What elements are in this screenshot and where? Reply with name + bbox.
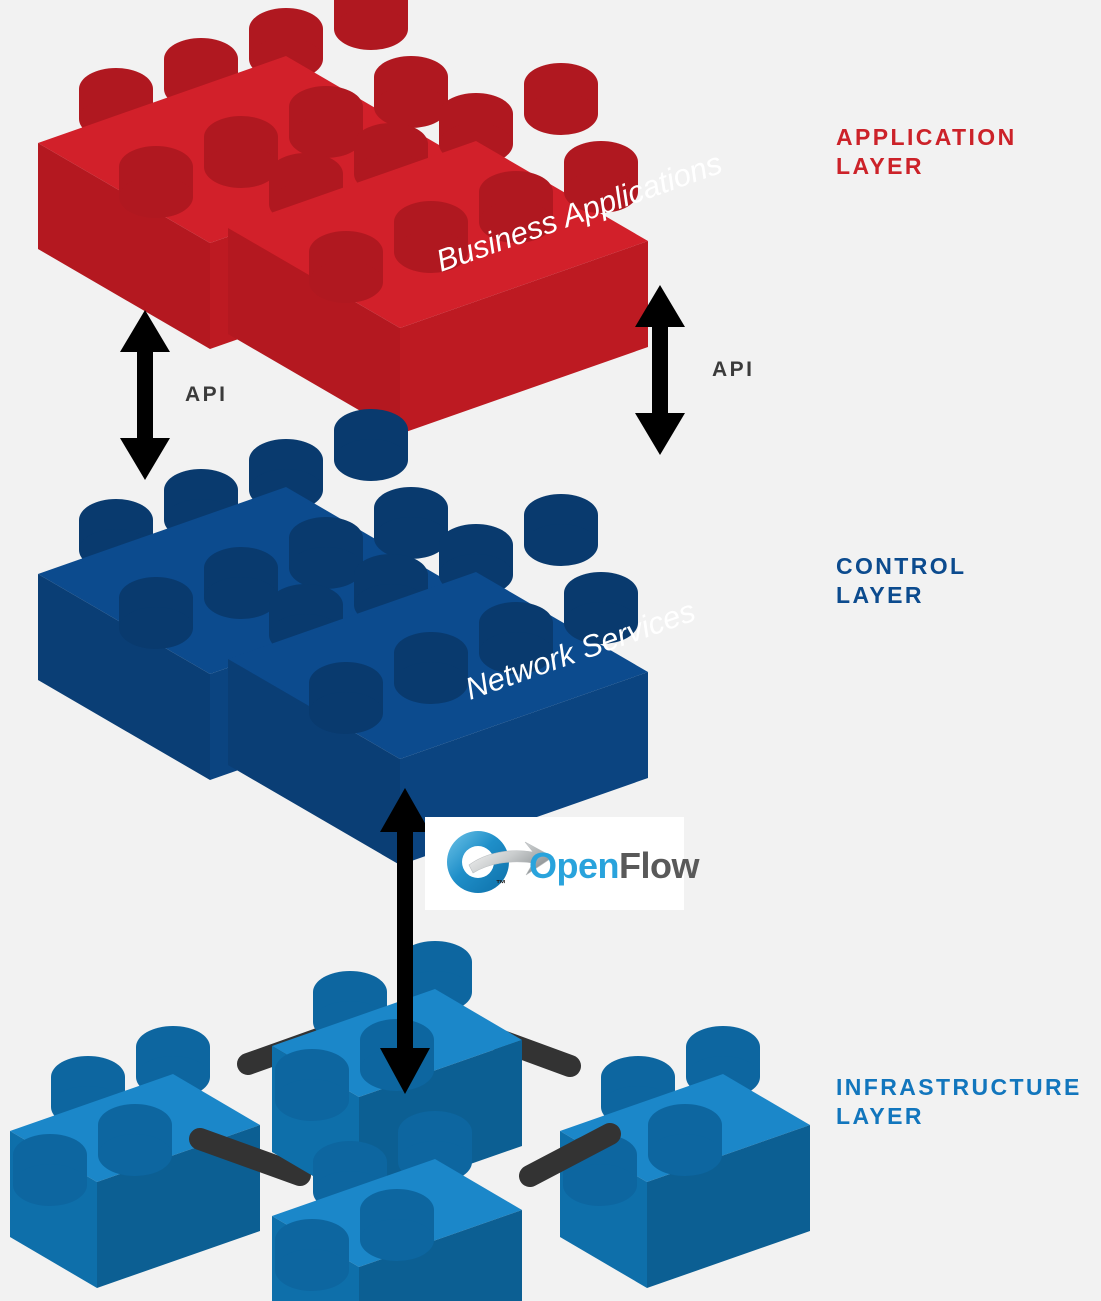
infrastructure-layer-label-line2: LAYER [836,1102,1082,1131]
control-layer-label-line2: LAYER [836,581,967,610]
openflow-logo[interactable]: OpenFlow ™ [425,817,684,910]
openflow-word-flow: Flow [619,845,699,886]
diagram-canvas: Business Applications Network Services [0,0,1101,1301]
openflow-wordmark: OpenFlow [529,845,699,887]
application-layer-label-line2: LAYER [836,152,1017,181]
application-layer-label: APPLICATION LAYER [836,123,1017,181]
infrastructure-layer-label-line1: INFRASTRUCTURE [836,1073,1082,1102]
api-label-right: API [712,358,755,382]
openflow-word-open: Open [529,845,619,886]
control-layer-label: CONTROL LAYER [836,552,967,610]
api-label-left: API [185,383,228,407]
infra-brick-right[interactable] [560,1026,810,1288]
application-layer-label-line1: APPLICATION [836,123,1017,152]
infrastructure-layer-label: INFRASTRUCTURE LAYER [836,1073,1082,1131]
control-layer-label-line1: CONTROL [836,552,967,581]
api-connector-left [120,310,170,480]
openflow-trademark-icon: ™ [496,879,506,890]
api-arrow-left-icon [120,310,170,480]
